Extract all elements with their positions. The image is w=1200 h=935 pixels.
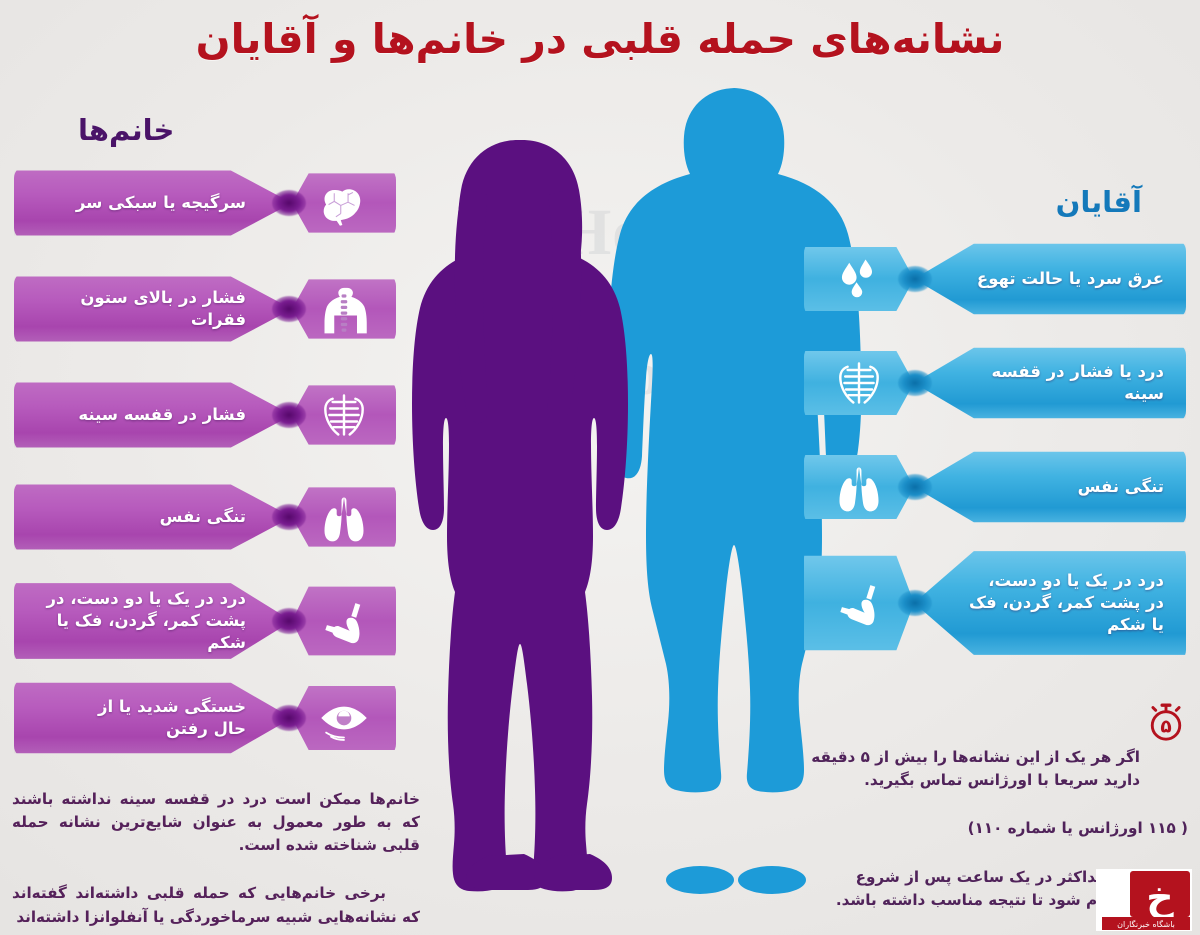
women-symptom-row[interactable]: فشار در بالای ستون فقرات — [0, 272, 396, 346]
ribbon-knot — [272, 608, 306, 634]
ribbon-knot — [272, 705, 306, 731]
men-symptom-label: درد در یک یا دو دست، در پشت کمر، گردن، ف… — [954, 570, 1164, 636]
women-symptom-row[interactable]: خستگی شدید یا از حال رفتن — [0, 678, 396, 758]
women-symptom-label: درد در یک یا دو دست، در پشت کمر، گردن، ف… — [34, 588, 252, 654]
men-symptom-band: درد در یک یا دو دست، در پشت کمر، گردن، ف… — [914, 544, 1186, 662]
women-symptom-label: فشار در بالای ستون فقرات — [34, 287, 252, 331]
men-symptom-row[interactable]: درد در یک یا دو دست، در پشت کمر، گردن، ف… — [804, 544, 1200, 662]
men-symptom-row[interactable]: تنگی نفس — [804, 447, 1200, 527]
men-symptom-band: درد یا فشار در قفسه سینه — [914, 343, 1186, 423]
women-symptom-label: سرگیجه یا سبکی سر — [34, 192, 252, 214]
eye-icon — [292, 678, 396, 758]
footer-emergency-paragraph-1: اگر هر یک از این نشانه‌ها را بیش از ۵ دق… — [796, 746, 1188, 792]
women-symptom-label: فشار در قفسه سینه — [34, 404, 252, 426]
men-symptom-label: درد یا فشار در قفسه سینه — [954, 361, 1164, 405]
stopwatch-icon: ۵ — [1144, 700, 1188, 744]
men-symptom-row[interactable]: عرق سرد یا حالت تهوع — [804, 239, 1200, 319]
women-symptom-label: تنگی نفس — [34, 506, 252, 528]
ribbon-knot — [898, 474, 932, 500]
women-symptom-band: خستگی شدید یا از حال رفتن — [14, 678, 292, 758]
women-symptom-row[interactable]: سرگیجه یا سبکی سر — [0, 166, 396, 240]
logo-caption: باشگاه خبرنگاران — [1117, 919, 1175, 929]
infographic-canvas: Health Persian Today نشانه‌های حمله قلبی… — [0, 0, 1200, 935]
site-logo[interactable]: خ باشگاه خبرنگاران — [1096, 869, 1192, 931]
women-symptom-band: درد در یک یا دو دست، در پشت کمر، گردن، ف… — [14, 578, 292, 664]
lungs-icon — [292, 480, 396, 554]
page-title: نشانه‌های حمله قلبی در خانم‌ها و آقایان — [0, 14, 1200, 64]
women-symptom-row[interactable]: تنگی نفس — [0, 480, 396, 554]
ribbon-knot — [898, 590, 932, 616]
men-symptom-band: عرق سرد یا حالت تهوع — [914, 239, 1186, 319]
logo-mark: خ — [1146, 875, 1174, 919]
women-section-heading: خانم‌ها — [78, 113, 174, 147]
women-symptom-row[interactable]: درد در یک یا دو دست، در پشت کمر، گردن، ف… — [0, 578, 396, 664]
women-symptom-label: خستگی شدید یا از حال رفتن — [34, 696, 252, 740]
spine-icon — [292, 272, 396, 346]
women-symptom-row[interactable]: فشار در قفسه سینه — [0, 378, 396, 452]
men-symptom-band: تنگی نفس — [914, 447, 1186, 527]
ribbon-knot — [898, 370, 932, 396]
ribbon-knot — [272, 190, 306, 216]
men-section-heading: آقایان — [1056, 185, 1142, 219]
ribbon-knot — [272, 402, 306, 428]
ribbon-knot — [272, 504, 306, 530]
brain-icon — [292, 166, 396, 240]
women-symptom-band: فشار در بالای ستون فقرات — [14, 272, 292, 346]
men-symptom-label: تنگی نفس — [954, 476, 1164, 498]
women-symptom-band: تنگی نفس — [14, 480, 292, 554]
stopwatch-number: ۵ — [1160, 716, 1171, 737]
footer-women-paragraph-2: برخی خانم‌هایی که حمله قلبی داشته‌اند گف… — [12, 882, 420, 928]
men-symptom-label: عرق سرد یا حالت تهوع — [954, 268, 1164, 290]
arm-pain-icon — [292, 578, 396, 664]
ribbon-knot — [898, 266, 932, 292]
footer-women-paragraph-1: خانم‌ها ممکن است درد در قفسه سینه نداشته… — [12, 788, 420, 857]
women-symptom-band: سرگیجه یا سبکی سر — [14, 166, 292, 240]
ribcage-icon — [292, 378, 396, 452]
footer-women-note: خانم‌ها ممکن است درد در قفسه سینه نداشته… — [12, 765, 420, 935]
female-silhouette — [412, 140, 628, 891]
footer-emergency-paragraph-2: ( ۱۱۵ اورژانس یا شماره ۱۱۰) — [796, 817, 1188, 840]
women-symptom-band: فشار در قفسه سینه — [14, 378, 292, 452]
ribbon-knot — [272, 296, 306, 322]
men-symptom-row[interactable]: درد یا فشار در قفسه سینه — [804, 343, 1200, 423]
